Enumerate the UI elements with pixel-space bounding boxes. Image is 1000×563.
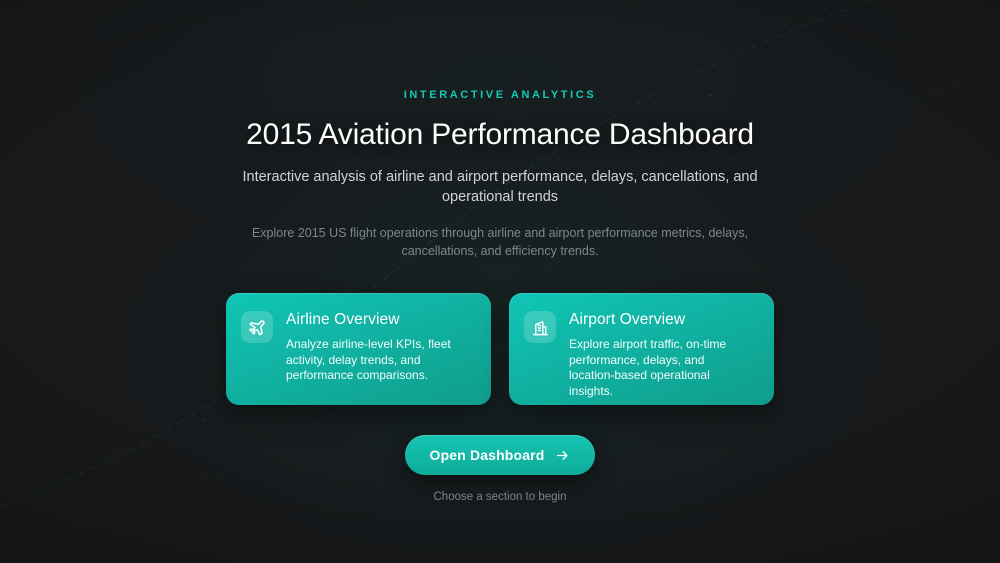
arrow-right-icon [555, 448, 570, 463]
card-airline-overview[interactable]: Airline Overview Analyze airline-level K… [226, 293, 491, 405]
open-dashboard-button[interactable]: Open Dashboard [405, 435, 596, 475]
section-card-row: Airline Overview Analyze airline-level K… [226, 293, 774, 405]
cta-hint: Choose a section to begin [434, 490, 567, 505]
hero-lede: Interactive analysis of airline and airp… [220, 167, 780, 207]
card-body: Airline Overview Analyze airline-level K… [286, 309, 466, 384]
card-title: Airport Overview [569, 310, 749, 329]
page-title: 2015 Aviation Performance Dashboard [246, 117, 754, 153]
open-dashboard-label: Open Dashboard [430, 447, 545, 463]
landing-page: INTERACTIVE ANALYTICS 2015 Aviation Perf… [0, 0, 1000, 563]
building-icon [524, 311, 556, 343]
eyebrow-label: INTERACTIVE ANALYTICS [404, 88, 597, 102]
airplane-icon [241, 311, 273, 343]
card-title: Airline Overview [286, 310, 466, 329]
hero-description: Explore 2015 US flight operations throug… [220, 225, 780, 260]
card-description: Explore airport traffic, on-time perform… [569, 337, 749, 399]
card-airport-overview[interactable]: Airport Overview Explore airport traffic… [509, 293, 774, 405]
card-description: Analyze airline-level KPIs, fleet activi… [286, 337, 466, 384]
card-body: Airport Overview Explore airport traffic… [569, 309, 749, 399]
